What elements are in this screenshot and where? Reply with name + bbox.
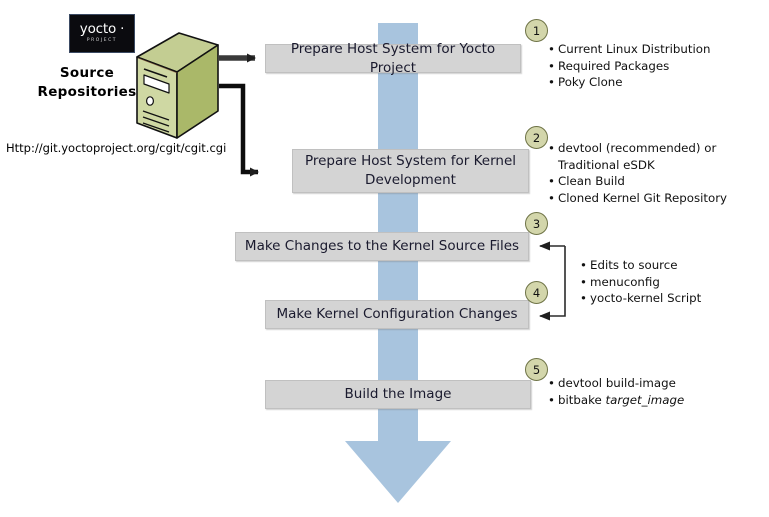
yocto-logo-subtitle: PROJECT bbox=[87, 37, 117, 44]
step-circle-4-number: 4 bbox=[533, 286, 540, 300]
step-circle-5-number: 5 bbox=[533, 363, 540, 377]
bullet-text: Poky Clone bbox=[558, 74, 763, 91]
step-circle-1: 1 bbox=[525, 19, 548, 42]
bullet-item: • Cloned Kernel Git Repository bbox=[548, 190, 728, 207]
connector-bullets-to-step4 bbox=[540, 246, 565, 316]
bullet-dot-icon: • bbox=[548, 41, 558, 58]
bullet-text-bitbake-plain: bitbake bbox=[558, 393, 606, 407]
connector-server-to-step2 bbox=[219, 86, 258, 172]
step-circle-3-number: 3 bbox=[533, 217, 540, 231]
bullet-dot-icon: • bbox=[548, 74, 558, 91]
bullet-dot-icon: • bbox=[548, 58, 558, 75]
main-flow-arrow-head bbox=[345, 441, 451, 503]
bullet-text-bitbake-italic: target_image bbox=[606, 393, 685, 407]
bullet-item: • devtool (recommended) or Traditional e… bbox=[548, 140, 728, 173]
step-circle-1-number: 1 bbox=[533, 24, 540, 38]
step-circle-2: 2 bbox=[525, 126, 548, 149]
process-box-step-3[interactable]: Make Changes to the Kernel Source Files bbox=[235, 232, 529, 261]
bullets-step-5: • devtool build-image • bitbake target_i… bbox=[548, 375, 748, 408]
bullet-item: • yocto-kernel Script bbox=[580, 290, 760, 307]
bullet-item: • Edits to source bbox=[580, 257, 760, 274]
bullet-dot-icon: • bbox=[580, 274, 590, 291]
bullet-text: Clean Build bbox=[558, 173, 728, 190]
step-circle-4: 4 bbox=[525, 281, 548, 304]
bullet-item: • bitbake target_image bbox=[548, 392, 748, 409]
bullet-text: devtool build-image bbox=[558, 375, 748, 392]
bullets-step-2: • devtool (recommended) or Traditional e… bbox=[548, 140, 728, 206]
process-box-step-5[interactable]: Build the Image bbox=[265, 380, 531, 409]
bullet-item: • menuconfig bbox=[580, 274, 760, 291]
bullet-text-bitbake: bitbake target_image bbox=[558, 392, 748, 409]
step-circle-2-number: 2 bbox=[533, 131, 540, 145]
bullet-item: • Poky Clone bbox=[548, 74, 763, 91]
bullet-dot-icon: • bbox=[548, 173, 558, 190]
server-icon bbox=[133, 31, 221, 141]
process-box-step-2[interactable]: Prepare Host System for Kernel Developme… bbox=[292, 149, 529, 193]
bullet-text: Edits to source bbox=[590, 257, 760, 274]
bullet-text: yocto-kernel Script bbox=[590, 290, 760, 307]
bullets-step-1: • Current Linux Distribution • Required … bbox=[548, 41, 763, 91]
bullet-text: menuconfig bbox=[590, 274, 760, 291]
bullet-dot-icon: • bbox=[580, 257, 590, 274]
step-circle-5: 5 bbox=[525, 358, 548, 381]
yocto-project-logo: yocto · PROJECT bbox=[69, 14, 135, 53]
process-box-step-5-label: Build the Image bbox=[345, 385, 452, 404]
process-box-step-3-label: Make Changes to the Kernel Source Files bbox=[245, 237, 519, 256]
bullet-item: • Current Linux Distribution bbox=[548, 41, 763, 58]
bullet-dot-icon: • bbox=[580, 290, 590, 307]
bullet-item: • Required Packages bbox=[548, 58, 763, 75]
bullet-dot-icon: • bbox=[548, 190, 558, 207]
bullet-text: Current Linux Distribution bbox=[558, 41, 763, 58]
process-box-step-2-label: Prepare Host System for Kernel Developme… bbox=[293, 152, 528, 190]
yocto-logo-wordmark: yocto · bbox=[80, 23, 124, 36]
bullets-steps-3-4: • Edits to source • menuconfig • yocto-k… bbox=[580, 257, 760, 307]
process-box-step-4-label: Make Kernel Configuration Changes bbox=[276, 305, 517, 324]
bullet-text: Required Packages bbox=[558, 58, 763, 75]
process-box-step-4[interactable]: Make Kernel Configuration Changes bbox=[265, 300, 529, 329]
bullet-item: • devtool build-image bbox=[548, 375, 748, 392]
bullet-text: devtool (recommended) or Traditional eSD… bbox=[558, 140, 728, 173]
source-repositories-url: Http://git.yoctoproject.org/cgit/cgit.cg… bbox=[6, 141, 226, 155]
step-circle-3: 3 bbox=[525, 212, 548, 235]
diagram-canvas: yocto · PROJECT Source Repositories Http… bbox=[0, 0, 769, 517]
bullet-dot-icon: • bbox=[548, 375, 558, 392]
process-box-step-1[interactable]: Prepare Host System for Yocto Project bbox=[265, 44, 521, 73]
bullet-dot-icon: • bbox=[548, 392, 558, 409]
bullet-text: Cloned Kernel Git Repository bbox=[558, 190, 728, 207]
bullet-dot-icon: • bbox=[548, 140, 558, 157]
bullet-item: • Clean Build bbox=[548, 173, 728, 190]
process-box-step-1-label: Prepare Host System for Yocto Project bbox=[266, 40, 520, 78]
